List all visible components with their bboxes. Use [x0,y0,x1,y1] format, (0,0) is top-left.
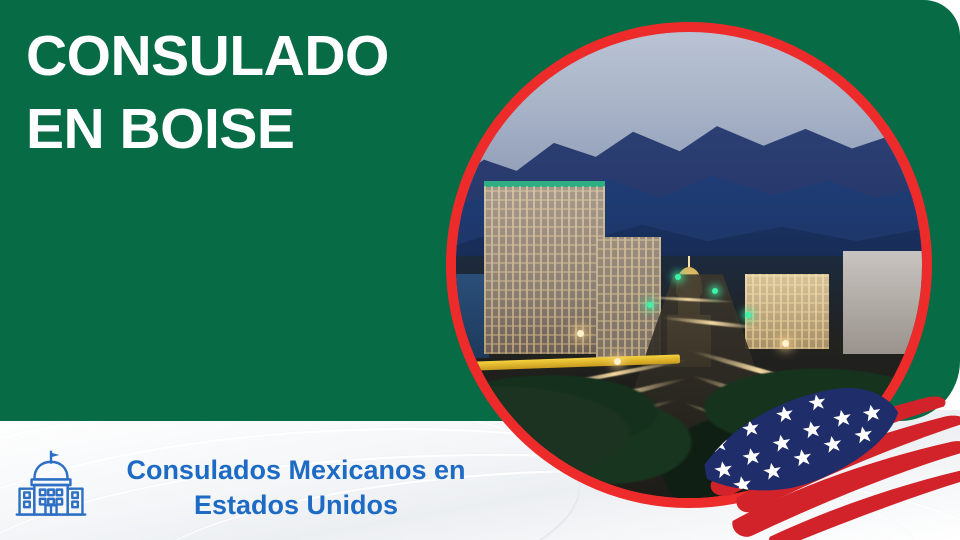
capitol-building-icon [14,448,88,527]
footer-lockup: Consulados Mexicanos en Estados Unidos [14,440,514,535]
headline-line-1: CONSULADO [26,24,389,88]
headline-line-2: EN BOISE [26,93,456,166]
footer-title: Consulados Mexicanos en Estados Unidos [96,453,496,522]
consulate-banner: CONSULADO EN BOISE [0,0,960,540]
footer-line-1: Consulados Mexicanos en [126,455,465,485]
footer-line-2: Estados Unidos [96,488,496,523]
page-title: CONSULADO EN BOISE [26,20,456,166]
